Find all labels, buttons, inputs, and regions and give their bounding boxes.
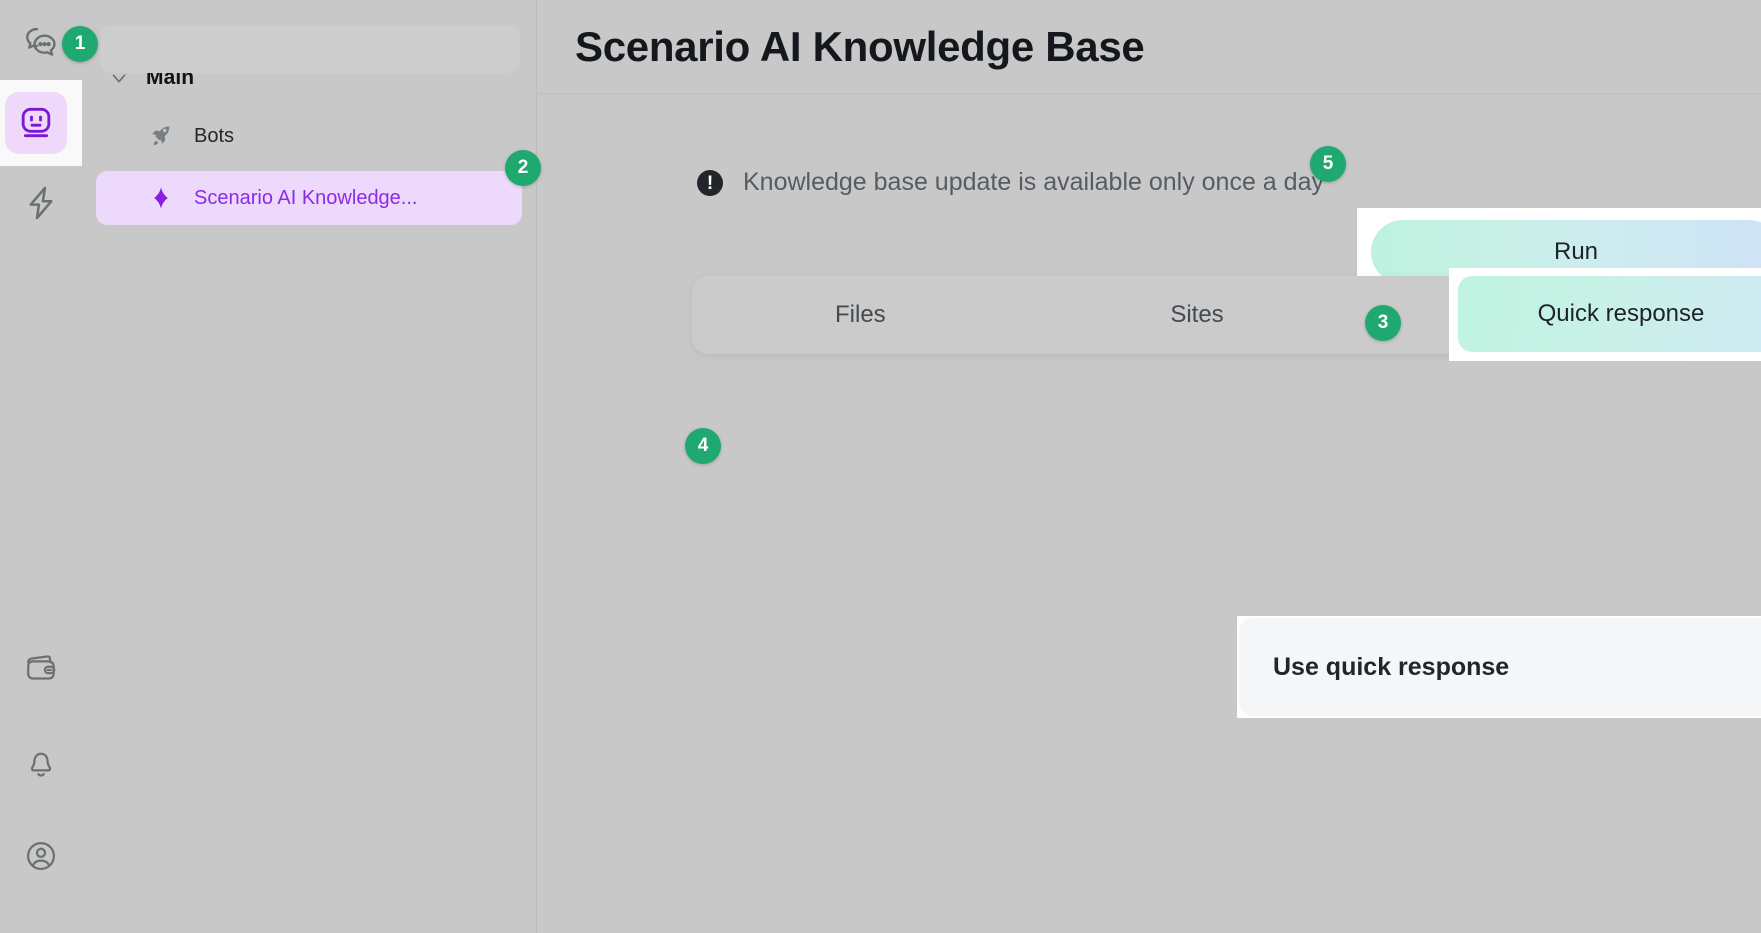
knowledge-base-notice-text: Knowledge base update is available only … bbox=[743, 166, 1324, 198]
bots-rail-button[interactable] bbox=[5, 92, 67, 154]
annotation-badge-2: 2 bbox=[505, 150, 541, 186]
sidebar-search-input[interactable] bbox=[100, 25, 520, 73]
notifications-rail-button[interactable] bbox=[10, 731, 72, 793]
bot-face-icon bbox=[16, 103, 56, 143]
bell-icon bbox=[23, 744, 59, 780]
sidebar-item-scenario-ai-knowledge[interactable]: Scenario AI Knowledge... bbox=[96, 171, 522, 225]
exclamation-icon: ! bbox=[697, 170, 723, 196]
icon-rail bbox=[0, 0, 82, 933]
tabs-container: Files Sites Quick response bbox=[692, 276, 1702, 354]
main-header: Scenario AI Knowledge Base bbox=[537, 0, 1761, 94]
bots-rail-button-highlight bbox=[0, 80, 82, 166]
chats-icon bbox=[22, 24, 60, 62]
use-quick-response-panel-highlight: Use quick response bbox=[1237, 616, 1761, 718]
tab-files[interactable]: Files bbox=[692, 276, 1029, 354]
wallet-icon bbox=[23, 650, 59, 686]
annotation-badge-1: 1 bbox=[62, 26, 98, 62]
user-icon bbox=[23, 838, 59, 874]
tab-quick-response[interactable]: Quick response bbox=[1458, 276, 1761, 352]
billing-rail-button[interactable] bbox=[10, 637, 72, 699]
sidebar-item-scenario-label: Scenario AI Knowledge... bbox=[194, 187, 417, 210]
page-title: Scenario AI Knowledge Base bbox=[575, 23, 1144, 71]
annotation-badge-3: 3 bbox=[1365, 305, 1401, 341]
sidebar: Main Bots Scenario AI Knowledge... bbox=[82, 0, 537, 933]
app-window: Main Bots Scenario AI Knowledge... bbox=[0, 0, 1761, 933]
annotation-badge-4: 4 bbox=[685, 428, 721, 464]
automations-rail-button[interactable] bbox=[10, 172, 72, 234]
sidebar-item-bots[interactable]: Bots bbox=[96, 109, 522, 163]
icon-rail-bottom-group bbox=[10, 621, 72, 933]
tab-quick-response-highlight: Quick response bbox=[1449, 268, 1761, 361]
lightning-bolt-icon bbox=[22, 184, 60, 222]
tab-sites[interactable]: Sites bbox=[1029, 276, 1366, 354]
content-body: ! Knowledge base update is available onl… bbox=[537, 166, 1761, 354]
use-quick-response-panel: Use quick response bbox=[1239, 618, 1761, 716]
sidebar-item-bots-label: Bots bbox=[194, 125, 234, 148]
rocket-icon bbox=[146, 121, 176, 151]
annotation-badge-5: 5 bbox=[1310, 146, 1346, 182]
diamond-sparkle-icon bbox=[146, 183, 176, 213]
use-quick-response-label: Use quick response bbox=[1273, 653, 1509, 682]
account-rail-button[interactable] bbox=[10, 825, 72, 887]
knowledge-base-notice: ! Knowledge base update is available onl… bbox=[697, 166, 1337, 198]
main-content: Scenario AI Knowledge Base ! Knowledge b… bbox=[537, 0, 1761, 933]
